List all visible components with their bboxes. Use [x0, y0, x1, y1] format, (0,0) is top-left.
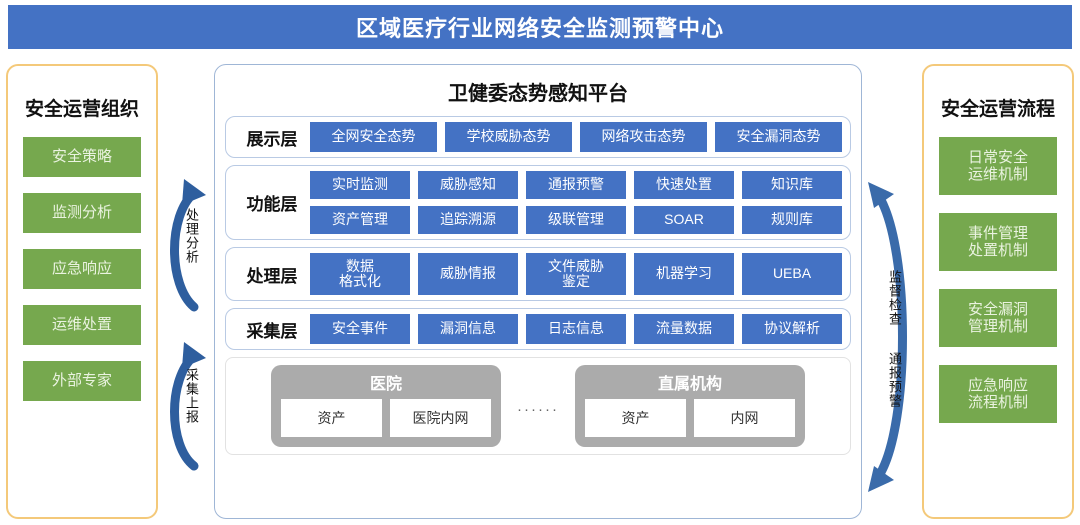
notify-arrow-label: 通报预警 [885, 352, 904, 408]
layer-collect: 采集层 安全事件 漏洞信息 日志信息 流量数据 协议解析 [225, 308, 851, 350]
layer-chip[interactable]: 全网安全态势 [310, 122, 437, 152]
left-panel-item[interactable]: 外部专家 [23, 361, 141, 401]
right-panel-item[interactable]: 安全漏洞 管理机制 [939, 289, 1057, 347]
org-group-title: 医院 [370, 370, 402, 394]
right-panel-item-line2: 管理机制 [968, 318, 1028, 335]
layer-chip-line2: 鉴定 [562, 274, 590, 289]
layer-chip[interactable]: 安全事件 [310, 314, 410, 344]
right-panel-item-line2: 处置机制 [968, 242, 1028, 259]
left-panel-item[interactable]: 应急响应 [23, 249, 141, 289]
layer-process-chips: 数据 格式化 威胁情报 文件威胁 鉴定 机器学习 UEBA [310, 253, 842, 295]
layer-chip[interactable]: 流量数据 [634, 314, 734, 344]
layer-chip[interactable]: 日志信息 [526, 314, 626, 344]
right-panel-item-list: 日常安全 运维机制 事件管理 处置机制 安全漏洞 管理机制 应急响应 流程机制 [924, 137, 1072, 517]
right-panel-item-line1: 日常安全 [968, 149, 1028, 166]
diagram-canvas: 区域医疗行业网络安全监测预警中心 安全运营组织 安全策略 监测分析 应急响应 运… [0, 0, 1080, 525]
collect-report-arrow-label: 采集上报 [182, 368, 201, 424]
layer-process-label: 处理层 [234, 262, 310, 287]
ellipsis-separator: ······ [501, 401, 575, 418]
layer-chip[interactable]: 文件威胁 鉴定 [526, 253, 626, 295]
layer-chip[interactable]: 实时监测 [310, 171, 410, 199]
layer-chip-line2: 格式化 [339, 274, 381, 289]
layer-chip[interactable]: 协议解析 [742, 314, 842, 344]
layer-function: 功能层 实时监测 威胁感知 通报预警 快速处置 知识库 资产管理 追踪溯源 级联… [225, 165, 851, 240]
right-panel-title: 安全运营流程 [941, 94, 1055, 121]
infrastructure-row: 医院 资产 医院内网 ······ 直属机构 资产 内网 [225, 357, 851, 455]
layer-function-row: 资产管理 追踪溯源 级联管理 SOAR 规则库 [310, 206, 842, 234]
right-panel-item[interactable]: 日常安全 运维机制 [939, 137, 1057, 195]
org-child[interactable]: 资产 [281, 399, 382, 437]
layer-chip[interactable]: 规则库 [742, 206, 842, 234]
org-child[interactable]: 内网 [694, 399, 795, 437]
layer-chip[interactable]: 知识库 [742, 171, 842, 199]
org-group-children: 资产 医院内网 [281, 399, 491, 437]
right-panel-item-line1: 安全漏洞 [968, 301, 1028, 318]
layer-display-label: 展示层 [234, 125, 310, 150]
layer-chip-line1: 数据 [346, 259, 374, 274]
layer-chip[interactable]: 数据 格式化 [310, 253, 410, 295]
process-analysis-arrow-label: 处理分析 [182, 208, 201, 264]
org-child[interactable]: 医院内网 [390, 399, 491, 437]
left-panel-title: 安全运营组织 [25, 94, 139, 121]
layer-chip-line1: 文件威胁 [548, 259, 604, 274]
layer-function-row: 实时监测 威胁感知 通报预警 快速处置 知识库 [310, 171, 842, 199]
layer-chip[interactable]: 威胁情报 [418, 253, 518, 295]
layer-chip[interactable]: 资产管理 [310, 206, 410, 234]
supervise-notify-arrow-icon [858, 172, 920, 502]
layer-function-chip-grid: 实时监测 威胁感知 通报预警 快速处置 知识库 资产管理 追踪溯源 级联管理 S… [310, 171, 842, 234]
layer-chip[interactable]: 机器学习 [634, 253, 734, 295]
org-group-title: 直属机构 [658, 370, 722, 394]
layer-process: 处理层 数据 格式化 威胁情报 文件威胁 鉴定 机器学习 UEBA [225, 247, 851, 301]
org-group-children: 资产 内网 [585, 399, 795, 437]
platform-title: 卫健委态势感知平台 [225, 77, 851, 106]
page-title: 区域医疗行业网络安全监测预警中心 [356, 11, 724, 43]
page-title-banner: 区域医疗行业网络安全监测预警中心 [8, 5, 1072, 49]
security-operations-process-panel: 安全运营流程 日常安全 运维机制 事件管理 处置机制 安全漏洞 管理机制 应急响… [922, 64, 1074, 519]
right-panel-item-line2: 流程机制 [968, 394, 1028, 411]
left-panel-item[interactable]: 监测分析 [23, 193, 141, 233]
layer-display: 展示层 全网安全态势 学校威胁态势 网络攻击态势 安全漏洞态势 [225, 116, 851, 158]
org-child[interactable]: 资产 [585, 399, 686, 437]
security-operations-organization-panel: 安全运营组织 安全策略 监测分析 应急响应 运维处置 外部专家 [6, 64, 158, 519]
layer-chip[interactable]: UEBA [742, 253, 842, 295]
org-group-affiliate: 直属机构 资产 内网 [575, 365, 805, 447]
layer-chip[interactable]: 漏洞信息 [418, 314, 518, 344]
layer-function-label: 功能层 [234, 190, 310, 215]
left-panel-item[interactable]: 运维处置 [23, 305, 141, 345]
layer-chip[interactable]: 威胁感知 [418, 171, 518, 199]
layer-chip[interactable]: 快速处置 [634, 171, 734, 199]
layer-chip[interactable]: SOAR [634, 206, 734, 234]
org-group-hospital: 医院 资产 医院内网 [271, 365, 501, 447]
layer-chip[interactable]: 学校威胁态势 [445, 122, 572, 152]
layer-collect-label: 采集层 [234, 317, 310, 342]
right-panel-item[interactable]: 应急响应 流程机制 [939, 365, 1057, 423]
right-panel-item-line2: 运维机制 [968, 166, 1028, 183]
layer-display-chips: 全网安全态势 学校威胁态势 网络攻击态势 安全漏洞态势 [310, 122, 842, 152]
right-panel-item[interactable]: 事件管理 处置机制 [939, 213, 1057, 271]
right-panel-item-line1: 应急响应 [968, 377, 1028, 394]
left-panel-item[interactable]: 安全策略 [23, 137, 141, 177]
left-panel-item-list: 安全策略 监测分析 应急响应 运维处置 外部专家 [8, 137, 156, 517]
situational-awareness-platform: 卫健委态势感知平台 展示层 全网安全态势 学校威胁态势 网络攻击态势 安全漏洞态… [214, 64, 862, 519]
layer-chip[interactable]: 级联管理 [526, 206, 626, 234]
right-panel-item-line1: 事件管理 [968, 225, 1028, 242]
layer-collect-chips: 安全事件 漏洞信息 日志信息 流量数据 协议解析 [310, 314, 842, 344]
layer-chip[interactable]: 网络攻击态势 [580, 122, 707, 152]
layer-chip[interactable]: 通报预警 [526, 171, 626, 199]
supervise-arrow-label: 监督检查 [885, 270, 904, 326]
layer-chip[interactable]: 安全漏洞态势 [715, 122, 842, 152]
layer-chip[interactable]: 追踪溯源 [418, 206, 518, 234]
